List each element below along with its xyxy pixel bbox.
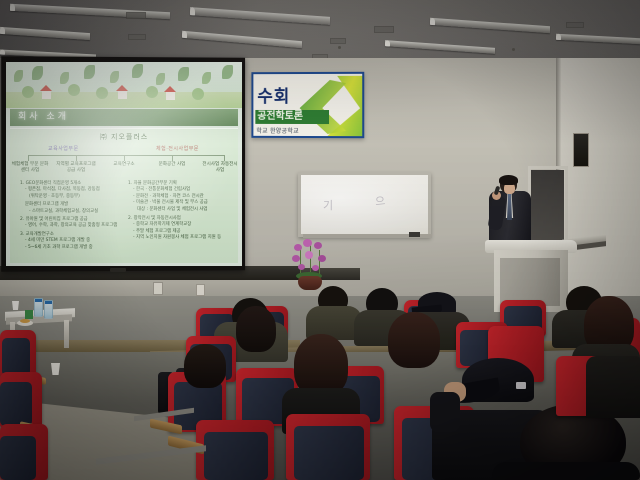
- org-connector: [172, 155, 173, 161]
- leaf-icon: [132, 64, 143, 78]
- tree-icon: [22, 86, 34, 98]
- lecture-hall-photo: 회사 소개 ㈜ 지오플러스 교육사업부문 체험·전시사업부문 체험체험 부문 문…: [0, 0, 640, 480]
- wall-speaker-icon: [573, 133, 589, 167]
- house-icon: [42, 90, 51, 99]
- orchid-bloom: [294, 244, 302, 251]
- slide-body: ㈜ 지오플러스 교육사업부문 체험·전시사업부문 체험체험 부문 문화센터 사업…: [10, 128, 238, 263]
- slide-right-column: 1. 자율 문화공간부문 기획 - 한국 · 전통문화체험 건립사업 - 문화전…: [128, 181, 234, 242]
- org-node: 교육연구소: [104, 162, 144, 168]
- wall-banner: 수회 공전학토론 학교 한양공학교: [251, 72, 364, 138]
- water-bottle: [34, 298, 43, 317]
- roof-icon: [116, 85, 128, 91]
- org-label-left: 교육사업부문: [48, 145, 79, 152]
- bullet: 1. 자율 문화공간부문 기획: [128, 181, 177, 186]
- house-icon: [118, 90, 127, 99]
- slide-section-heading: ㈜ 지오플러스: [10, 132, 238, 142]
- bullet: 문화센터 프로그램 개발: [20, 200, 120, 208]
- whiteboard: 기 으: [298, 172, 431, 237]
- leaf-icon: [60, 72, 69, 84]
- paper-cup: [51, 363, 60, 375]
- audience-shoulders: [586, 356, 640, 418]
- orchid-bloom: [312, 265, 319, 271]
- tree-icon: [146, 86, 158, 98]
- slide-left-column: 1. GEO문화센터 직접운영 5개소 - 평촌점, 마석점, 다사점, 목동점…: [20, 181, 120, 251]
- roof-icon: [164, 86, 176, 92]
- screen-pull-tab: [110, 268, 126, 272]
- auditorium-seat-pad: [0, 382, 32, 426]
- audience-head-long-hair: [236, 306, 276, 352]
- auditorium-seat-pad: [2, 338, 30, 376]
- power-outlet-icon: [153, 282, 163, 295]
- org-node: 전시사업 자동전시 사업: [200, 162, 240, 174]
- leaf-icon: [32, 66, 43, 80]
- tree-icon: [96, 87, 108, 99]
- podium-front-panel: [500, 258, 560, 306]
- sprinkler-head: [512, 48, 515, 51]
- side-table-leg: [64, 320, 69, 348]
- slide-title: 회사 소개: [10, 109, 238, 126]
- banner-line-3: 학교 한양공학교: [256, 126, 299, 135]
- leaf-icon: [202, 72, 211, 84]
- auditorium-seat-pad: [0, 436, 36, 480]
- bullet: - 지역 노인지원 자원봉사 체험 프로그램 지원 등: [128, 235, 234, 241]
- banner-swoosh-graphic: [292, 80, 346, 134]
- leaf-icon: [110, 71, 119, 83]
- orchid-bloom: [305, 251, 313, 259]
- slide-header-illustration: [6, 62, 242, 108]
- whiteboard-mark: 기: [323, 197, 333, 213]
- auditorium-seat-pad: [204, 432, 268, 480]
- water-bottle: [44, 300, 53, 319]
- org-node: 체험체험 부문 문화센터 사업: [10, 162, 50, 174]
- orchid-bloom: [292, 255, 300, 262]
- org-connector: [76, 155, 77, 161]
- org-connector: [28, 155, 224, 156]
- auditorium-seat-pad: [294, 426, 364, 480]
- ceiling-vent: [374, 26, 394, 33]
- ceiling-vent: [128, 34, 146, 40]
- projection-screen: 회사 소개 ㈜ 지오플러스 교육사업부문 체험·전시사업부문 체험체험 부문 문…: [6, 62, 242, 266]
- org-node: 지역별 교육프로그램 공급 사업: [56, 162, 96, 174]
- tree-icon: [68, 84, 80, 96]
- sprinkler-head: [338, 46, 341, 49]
- bullet: - 영어, 수학, 과학, 창의교육 공급 맞춤형 프로그램: [20, 223, 120, 229]
- green-carton: [25, 310, 33, 319]
- leaf-icon: [156, 73, 165, 85]
- leaf-icon: [14, 70, 23, 82]
- org-connector: [28, 155, 29, 161]
- org-connector: [224, 155, 225, 161]
- paper-cup: [12, 301, 19, 310]
- banner-line-1: 수회: [257, 89, 290, 106]
- org-label-right: 체험·전시사업부문: [156, 145, 199, 152]
- leaf-icon: [222, 65, 233, 79]
- orchid-stem: [319, 250, 320, 274]
- audience-head-long-hair: [294, 334, 348, 396]
- ceiling-vent: [126, 12, 146, 19]
- whiteboard-surface: [301, 175, 428, 234]
- leaf-icon: [178, 67, 189, 81]
- orchid-arrangement: [288, 236, 332, 288]
- flower-pot: [298, 276, 322, 290]
- ceiling-vent: [330, 38, 346, 44]
- bullet: - 5~6세 기초 과학 프로그램 개발 중: [20, 245, 120, 251]
- orchid-stem: [310, 244, 311, 274]
- bullet: 3. 교육개발연구소: [20, 230, 120, 238]
- audience-head-long-hair: [184, 344, 226, 388]
- power-outlet-icon: [196, 284, 205, 296]
- whiteboard-mark: 으: [374, 193, 386, 210]
- banner-line-2: 공전학토론: [255, 110, 329, 124]
- audience-head-long-hair: [388, 312, 440, 368]
- audience-arm: [430, 392, 460, 432]
- presenter-hair: [499, 175, 518, 185]
- food-item: [20, 319, 30, 323]
- orchid-bloom: [318, 255, 326, 262]
- org-node: 문화공간 사업: [152, 162, 192, 168]
- leaf-icon: [84, 65, 95, 79]
- orchid-bloom: [314, 242, 322, 249]
- org-connector: [124, 155, 125, 161]
- ceiling-vent: [566, 22, 584, 28]
- house-icon: [166, 91, 175, 100]
- whiteboard-eraser: [409, 232, 420, 237]
- tree-icon: [192, 88, 204, 100]
- bullet: 1. GEO문화센터 직접운영 5개소: [20, 181, 81, 186]
- orchid-bloom: [303, 239, 312, 247]
- audience-shoulders: [492, 462, 640, 480]
- roof-icon: [40, 85, 52, 91]
- cap-logo: [516, 382, 526, 389]
- orchid-stem: [300, 248, 301, 274]
- orchid-bloom: [298, 264, 305, 270]
